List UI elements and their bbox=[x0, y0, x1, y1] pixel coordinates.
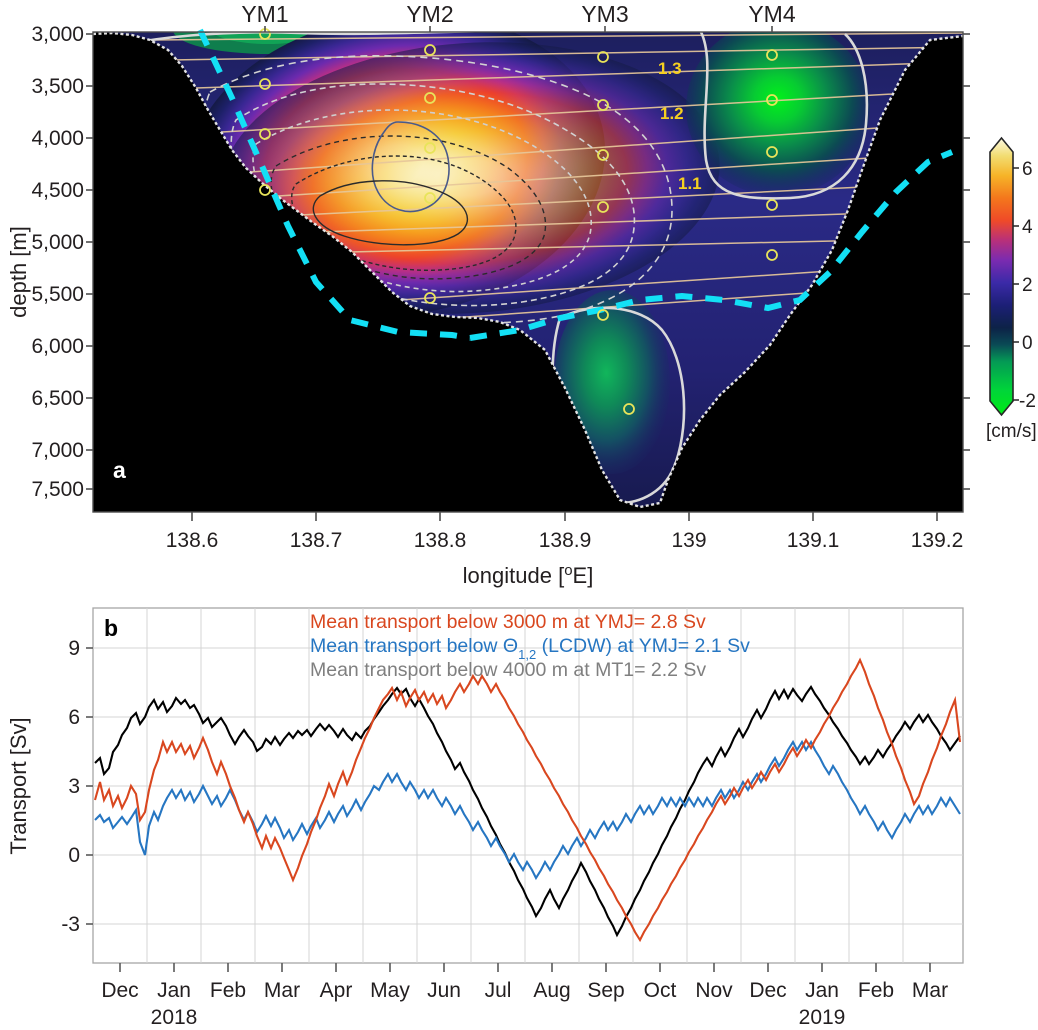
legend-entry-ymj-3000m: Mean transport below 3000 m at YMJ= 2.8 … bbox=[310, 611, 706, 633]
month-tick-feb-2019: Feb bbox=[858, 979, 894, 1002]
month-tick-nov-2018: Nov bbox=[695, 979, 733, 1002]
x-axis-title-degree: o bbox=[564, 562, 572, 579]
panel-a-y-axis: 3,000 3,500 4,000 4,500 5,000 5,500 6,00… bbox=[6, 23, 93, 501]
x-tick-138-7: 138.7 bbox=[290, 529, 343, 552]
month-tick-aug-2018: Aug bbox=[533, 979, 570, 1002]
year-label-2018: 2018 bbox=[151, 1006, 198, 1029]
mooring-labels: YM1 YM2 YM3 YM4 bbox=[241, 1, 796, 32]
figure-root: 1.3 1.2 1.1 a 3,000 3,500 4,000 4,500 5,… bbox=[0, 0, 1038, 1030]
colorbar-tick-0: 0 bbox=[1022, 333, 1033, 354]
panel-b-y-axis-title: Transport [Sv] bbox=[6, 717, 31, 854]
year-label-2019: 2019 bbox=[799, 1006, 846, 1029]
y-tick-7000: 7,000 bbox=[31, 439, 84, 462]
panel-b-y-tick-9: 9 bbox=[68, 637, 80, 660]
panel-b: b Mean transport below 3000 m at YMJ= 2.… bbox=[6, 608, 963, 1029]
x-tick-138-6: 138.6 bbox=[166, 529, 219, 552]
month-tick-oct-2018: Oct bbox=[644, 979, 677, 1002]
x-tick-138-9: 138.9 bbox=[539, 529, 592, 552]
panel-b-y-axis: 9 6 3 0 -3 Transport [Sv] bbox=[6, 637, 93, 936]
legend-lcdw-post: (LCDW) at YMJ= 2.1 Sv bbox=[536, 635, 750, 657]
colorbar-tick-2: 2 bbox=[1022, 275, 1033, 296]
y-tick-4500: 4,500 bbox=[31, 179, 84, 202]
mooring-label-ym3: YM3 bbox=[581, 1, 628, 27]
contour-label-1-3: 1.3 bbox=[658, 59, 682, 78]
x-tick-139-1: 139.1 bbox=[787, 529, 840, 552]
x-axis-title: longitude [oE] bbox=[463, 562, 594, 588]
month-tick-may-2018: May bbox=[370, 979, 410, 1002]
y-tick-6500: 6,500 bbox=[31, 387, 84, 410]
legend-lcdw-pre: Mean transport below Θ bbox=[310, 635, 518, 657]
mooring-label-ym1: YM1 bbox=[241, 1, 288, 27]
colorbar: 6 4 2 0 -2 [cm/s] bbox=[986, 136, 1037, 442]
mooring-label-ym2: YM2 bbox=[406, 1, 453, 27]
y-axis-title: depth [m] bbox=[6, 226, 31, 318]
month-tick-jun-2018: Jun bbox=[427, 979, 461, 1002]
y-tick-3000: 3,000 bbox=[31, 23, 84, 46]
mooring-label-ym4: YM4 bbox=[748, 1, 796, 27]
panel-b-x-axis: Dec Jan Feb Mar Apr May Jun Jul Aug Sep … bbox=[101, 963, 948, 1029]
colorbar-tick-4: 4 bbox=[1022, 217, 1033, 238]
panel-a-x-axis: 138.6 138.7 138.8 138.9 139 139.1 139.2 … bbox=[166, 512, 964, 588]
colorbar-tick-neg2: -2 bbox=[1019, 391, 1036, 412]
panel-a: 1.3 1.2 1.1 a 3,000 3,500 4,000 4,500 5,… bbox=[6, 0, 1037, 588]
panel-a-label: a bbox=[113, 457, 126, 483]
panel-b-y-tick-0: 0 bbox=[68, 844, 80, 867]
colorbar-unit-label: [cm/s] bbox=[986, 421, 1037, 442]
month-tick-mar-2018: Mar bbox=[264, 979, 300, 1002]
panel-a-right-ticks bbox=[963, 34, 970, 489]
panel-b-y-tick-6: 6 bbox=[68, 706, 80, 729]
month-tick-dec-2018: Dec bbox=[749, 979, 786, 1002]
panel-b-y-tick-3: 3 bbox=[68, 775, 80, 798]
month-tick-sep-2018: Sep bbox=[587, 979, 624, 1002]
x-axis-title-main: longitude [ bbox=[463, 563, 565, 588]
colorbar-ticks bbox=[1013, 168, 1019, 400]
figure-svg: 1.3 1.2 1.1 a 3,000 3,500 4,000 4,500 5,… bbox=[0, 0, 1038, 1030]
month-tick-jan-2019: Jan bbox=[805, 979, 839, 1002]
y-tick-7500: 7,500 bbox=[31, 478, 84, 501]
x-axis-title-tail: E] bbox=[573, 563, 594, 588]
y-tick-3500: 3,500 bbox=[31, 75, 84, 98]
panel-b-y-tick-neg3: -3 bbox=[61, 913, 80, 936]
month-tick-dec-2017: Dec bbox=[101, 979, 138, 1002]
month-tick-apr-2018: Apr bbox=[320, 979, 353, 1002]
month-tick-feb-2018: Feb bbox=[210, 979, 246, 1002]
month-tick-mar-2019: Mar bbox=[912, 979, 948, 1002]
y-tick-5000: 5,000 bbox=[31, 231, 84, 254]
contour-label-1-2: 1.2 bbox=[660, 104, 684, 123]
y-tick-6000: 6,000 bbox=[31, 335, 84, 358]
month-tick-jul-2018: Jul bbox=[485, 979, 512, 1002]
x-tick-139: 139 bbox=[671, 529, 706, 552]
month-tick-jan-2018: Jan bbox=[157, 979, 191, 1002]
panel-b-label: b bbox=[104, 615, 118, 641]
y-tick-5500: 5,500 bbox=[31, 283, 84, 306]
x-tick-139-2: 139.2 bbox=[911, 529, 964, 552]
y-tick-4000: 4,000 bbox=[31, 127, 84, 150]
colorbar-tick-6: 6 bbox=[1022, 159, 1033, 180]
contour-label-1-1: 1.1 bbox=[678, 174, 702, 193]
legend-entry-mt1-4000m: Mean transport below 4000 m at MT1= 2.2 … bbox=[310, 659, 706, 681]
x-tick-138-8: 138.8 bbox=[414, 529, 467, 552]
